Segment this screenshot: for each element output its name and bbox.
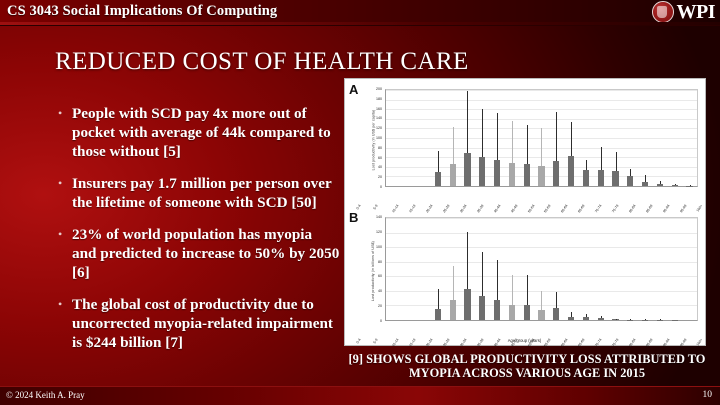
- error-bar: [616, 319, 617, 320]
- bar-group: [460, 90, 475, 186]
- panel-letter-a: A: [349, 82, 358, 97]
- bar: [583, 317, 589, 320]
- bar-group: [490, 90, 505, 186]
- bar: [450, 164, 456, 186]
- bar: [583, 170, 589, 186]
- figure-caption: [9] SHOWS GLOBAL PRODUCTIVITY LOSS ATTRI…: [340, 352, 714, 380]
- y-tick-label: 20: [378, 175, 382, 179]
- bar-group: [534, 90, 549, 186]
- error-bar: [645, 175, 646, 182]
- bar-group: [682, 218, 697, 320]
- bar-group: [608, 90, 623, 186]
- plot-area-b: [385, 217, 698, 321]
- bar: [450, 300, 456, 320]
- error-bar: [571, 312, 572, 317]
- y-tick-label: 100: [376, 136, 382, 140]
- error-bar: [527, 125, 528, 165]
- y-axis-ticks-a: 020406080100120140160180200: [369, 89, 383, 187]
- bar-group: [504, 90, 519, 186]
- y-tick-label: 160: [376, 107, 382, 111]
- bar: [642, 182, 648, 186]
- bar: [479, 296, 485, 320]
- bullet-marker-icon: •: [58, 225, 72, 282]
- bar: [524, 305, 530, 320]
- wpi-logo: WPI: [652, 1, 716, 23]
- bar-group: [519, 90, 534, 186]
- error-bar: [571, 122, 572, 156]
- bar: [553, 308, 559, 320]
- error-bar: [527, 275, 528, 305]
- error-bar: [660, 181, 661, 184]
- bar: [612, 171, 618, 186]
- bar: [568, 156, 574, 186]
- bar: [672, 185, 678, 186]
- y-axis-ticks-b: 020406080100120140: [369, 217, 383, 321]
- error-bar: [541, 291, 542, 310]
- bar-group: [638, 218, 653, 320]
- list-item: • People with SCD pay 4x more out of poc…: [58, 104, 340, 161]
- figure-image: A Lost productivity (in US$ per capita) …: [344, 78, 706, 346]
- y-tick-label: 120: [376, 230, 382, 234]
- slide-header: CS 3043 Social Implications Of Computing…: [0, 0, 720, 26]
- y-tick-label: 60: [378, 156, 382, 160]
- bar-group: [667, 218, 682, 320]
- bar: [553, 161, 559, 186]
- error-bar: [467, 91, 468, 153]
- bullet-marker-icon: •: [58, 295, 72, 352]
- bar-group: [416, 218, 431, 320]
- bar-group: [386, 218, 401, 320]
- error-bar: [438, 151, 439, 171]
- error-bar: [453, 127, 454, 164]
- error-bar: [616, 152, 617, 171]
- bar-group: [460, 218, 475, 320]
- bar-group: [519, 218, 534, 320]
- y-tick-label: 120: [376, 126, 382, 130]
- plot-area-a: [385, 89, 698, 187]
- error-bar: [497, 260, 498, 300]
- bar: [598, 170, 604, 186]
- bar-group: [475, 218, 490, 320]
- list-item: • The global cost of productivity due to…: [58, 295, 340, 352]
- bar-group: [579, 90, 594, 186]
- y-tick-label: 40: [378, 289, 382, 293]
- bullet-marker-icon: •: [58, 174, 72, 212]
- y-tick-label: 20: [378, 304, 382, 308]
- bar-group: [667, 90, 682, 186]
- y-tick-label: 40: [378, 165, 382, 169]
- bar-group: [386, 90, 401, 186]
- bar: [479, 157, 485, 186]
- bar-group: [653, 90, 668, 186]
- bar: [509, 305, 515, 320]
- bar: [538, 310, 544, 320]
- bar-group: [430, 218, 445, 320]
- bar: [435, 172, 441, 186]
- wpi-logo-text: WPI: [677, 2, 716, 22]
- error-bar: [586, 314, 587, 317]
- bullet-text: 23% of world population has myopia and p…: [72, 225, 340, 282]
- y-tick-label: 0: [380, 185, 382, 189]
- bar-group: [623, 218, 638, 320]
- bar-group: [416, 90, 431, 186]
- bar-group: [593, 90, 608, 186]
- error-bar: [512, 275, 513, 306]
- copyright-text: © 2024 Keith A. Pray: [6, 390, 85, 400]
- bar-group: [549, 218, 564, 320]
- bar-group: [445, 218, 460, 320]
- chart-panel-a: A Lost productivity (in US$ per capita) …: [347, 81, 702, 209]
- bar: [509, 163, 515, 186]
- bullet-marker-icon: •: [58, 104, 72, 161]
- bar: [494, 300, 500, 320]
- bar-group: [608, 218, 623, 320]
- bullet-text: Insurers pay 1.7 million per person over…: [72, 174, 340, 212]
- bar: [494, 160, 500, 186]
- panel-letter-b: B: [349, 210, 358, 225]
- error-bar: [690, 185, 691, 186]
- error-bar: [497, 113, 498, 160]
- error-bar: [556, 292, 557, 309]
- error-bar: [601, 147, 602, 170]
- bar: [627, 176, 633, 186]
- slide-canvas: CS 3043 Social Implications Of Computing…: [0, 0, 720, 405]
- bullet-text: People with SCD pay 4x more out of pocke…: [72, 104, 340, 161]
- course-title: CS 3043 Social Implications Of Computing: [7, 3, 277, 20]
- y-tick-label: 100: [376, 245, 382, 249]
- bar-group: [564, 218, 579, 320]
- bar: [657, 184, 663, 186]
- page-number: 10: [703, 390, 713, 400]
- bar: [612, 319, 618, 320]
- slide-footer: © 2024 Keith A. Pray 10: [0, 386, 720, 405]
- bar-group: [564, 90, 579, 186]
- y-tick-label: 0: [380, 319, 382, 323]
- error-bar: [675, 184, 676, 185]
- bar-group: [401, 90, 416, 186]
- bullet-list: • People with SCD pay 4x more out of poc…: [58, 104, 340, 365]
- page-title: REDUCED COST OF HEALTH CARE: [55, 48, 469, 76]
- bar-group: [504, 218, 519, 320]
- error-bar: [586, 160, 587, 170]
- y-tick-label: 80: [378, 146, 382, 150]
- bar: [464, 153, 470, 186]
- error-bar: [556, 112, 557, 161]
- bar-group: [534, 218, 549, 320]
- wpi-seal-icon: [652, 1, 674, 23]
- bar-group: [579, 218, 594, 320]
- bar-group: [623, 90, 638, 186]
- list-item: • 23% of world population has myopia and…: [58, 225, 340, 282]
- bar: [524, 164, 530, 186]
- error-bar: [482, 109, 483, 157]
- error-bar: [482, 252, 483, 296]
- bar: [538, 166, 544, 186]
- y-tick-label: 80: [378, 260, 382, 264]
- bar-group: [593, 218, 608, 320]
- y-tick-label: 180: [376, 97, 382, 101]
- bar-group: [549, 90, 564, 186]
- error-bar: [453, 266, 454, 300]
- bar-group: [638, 90, 653, 186]
- bar: [598, 318, 604, 320]
- error-bar: [541, 128, 542, 165]
- bar-group: [682, 90, 697, 186]
- bar-group: [445, 90, 460, 186]
- chart-panel-b: B Lost productivity (in billions of US$)…: [347, 209, 702, 343]
- y-tick-label: 140: [376, 116, 382, 120]
- y-tick-label: 60: [378, 274, 382, 278]
- error-bar: [601, 316, 602, 318]
- y-tick-label: 140: [376, 215, 382, 219]
- error-bar: [512, 121, 513, 163]
- list-item: • Insurers pay 1.7 million per person ov…: [58, 174, 340, 212]
- bar-group: [653, 218, 668, 320]
- bar: [435, 309, 441, 320]
- bar: [568, 317, 574, 320]
- bar: [464, 289, 470, 320]
- bar-group: [401, 218, 416, 320]
- bar-group: [490, 218, 505, 320]
- bar-group: [475, 90, 490, 186]
- error-bar: [630, 169, 631, 177]
- error-bar: [467, 232, 468, 290]
- bullet-text: The global cost of productivity due to u…: [72, 295, 340, 352]
- y-tick-label: 200: [376, 87, 382, 91]
- bar-group: [430, 90, 445, 186]
- error-bar: [438, 289, 439, 309]
